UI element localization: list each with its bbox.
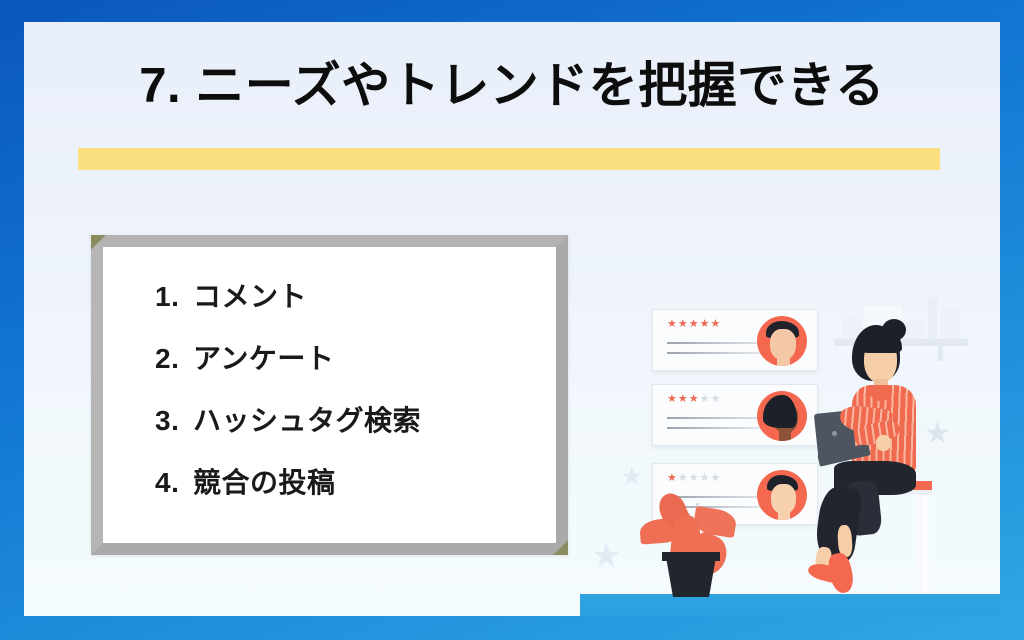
star-rating: ★ ★ ★ ★ ★ <box>667 319 720 330</box>
avatar-neck <box>778 510 790 520</box>
list-item-label: 競合の投稿 <box>193 461 336 501</box>
list-item-label: コメント <box>193 275 307 315</box>
potted-plant-icon <box>638 479 748 597</box>
list-item: 2. アンケート <box>155 337 421 377</box>
list-item-number: 2. <box>155 343 193 375</box>
decorative-star-icon: ★ <box>591 539 621 573</box>
star-icon: ★ <box>667 394 677 405</box>
plant-pot <box>666 557 716 597</box>
placeholder-text-line <box>667 352 765 354</box>
star-icon: ★ <box>700 319 710 330</box>
list-item-label: ハッシュタグ検索 <box>193 399 421 439</box>
avatar <box>757 391 807 441</box>
star-icon: ★ <box>689 394 699 405</box>
star-icon: ★ <box>678 319 688 330</box>
avatar-hair <box>763 395 797 428</box>
numbered-list: 1. コメント 2. アンケート 3. ハッシュタグ検索 4. 競合の投稿 <box>155 275 421 501</box>
star-rating: ★ ★ ★ ★ ★ <box>667 394 720 405</box>
star-icon: ★ <box>667 319 677 330</box>
page-title: 7. ニーズやトレンドを把握できる <box>24 60 1000 114</box>
laptop-logo <box>832 431 837 436</box>
framed-list-panel: 1. コメント 2. アンケート 3. ハッシュタグ検索 4. 競合の投稿 <box>91 235 568 555</box>
review-card: ★ ★ ★ ★ ★ <box>652 309 818 371</box>
title-block: 7. ニーズやトレンドを把握できる <box>24 60 1000 172</box>
star-icon: ★ <box>711 394 721 405</box>
illustration: ★ ★ ★ ★ ★ ★ ★ ★ ★ <box>580 267 1000 616</box>
star-icon: ★ <box>711 319 721 330</box>
title-highlight-bar <box>78 148 940 170</box>
star-icon: ★ <box>700 394 710 405</box>
review-card: ★ ★ ★ ★ ★ <box>652 384 818 446</box>
list-item-number: 1. <box>155 281 193 313</box>
list-item-number: 4. <box>155 467 193 499</box>
list-item: 4. 競合の投稿 <box>155 461 421 501</box>
avatar-neck <box>777 356 790 366</box>
list-item: 1. コメント <box>155 275 421 315</box>
list-item-number: 3. <box>155 405 193 437</box>
chair-back <box>922 479 929 594</box>
collar <box>870 385 892 401</box>
avatar <box>757 316 807 366</box>
seated-woman-with-laptop-icon <box>816 319 988 616</box>
chair-leg <box>916 495 922 594</box>
star-icon: ★ <box>678 394 688 405</box>
list-item-label: アンケート <box>193 337 334 377</box>
list-item: 3. ハッシュタグ検索 <box>155 399 421 439</box>
avatar-neck <box>779 430 791 441</box>
placeholder-text-line <box>667 427 765 429</box>
slide-canvas: 7. ニーズやトレンドを把握できる 1. コメント 2. アンケート 3. ハッ… <box>24 22 1000 616</box>
star-icon: ★ <box>689 319 699 330</box>
hand <box>876 435 891 451</box>
avatar <box>757 470 807 520</box>
